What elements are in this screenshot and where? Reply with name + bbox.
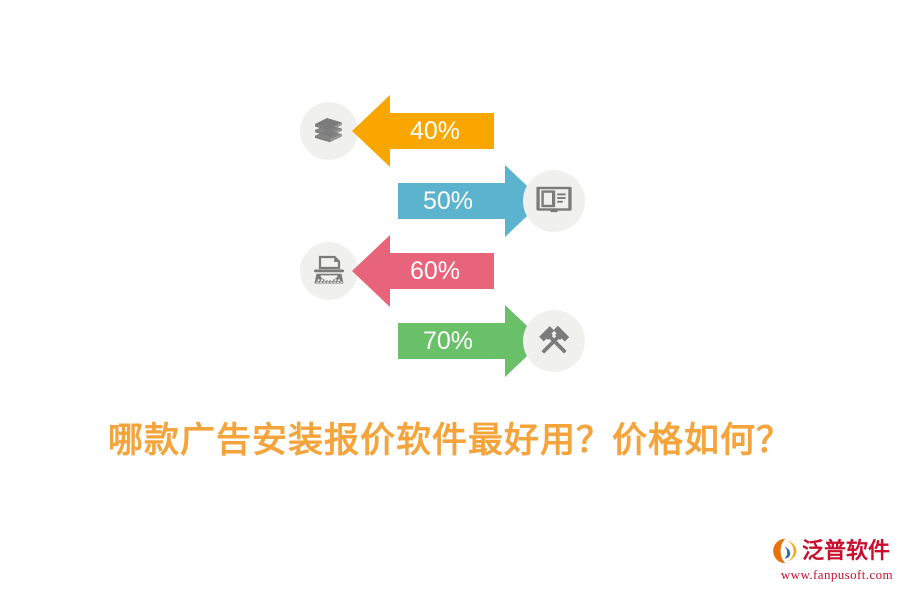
logo-url-text: www.fanpusoft.com <box>772 567 894 583</box>
logo-row: 泛普软件 <box>772 536 894 566</box>
open-book-icon <box>534 181 574 221</box>
arrow-value-label: 70% <box>423 305 473 377</box>
books-stack-icon <box>311 113 347 149</box>
infographic-row: 40% <box>295 95 605 167</box>
typewriter-icon <box>310 252 348 290</box>
arrow-value-label: 60% <box>410 235 460 307</box>
crossed-hammers-icon <box>534 321 574 361</box>
logo-brand-text: 泛普软件 <box>802 537 890 565</box>
icon-disc <box>523 310 585 372</box>
infographic-row: 60% <box>295 235 605 307</box>
arrow-value-label: 40% <box>410 95 460 167</box>
icon-disc <box>300 242 358 300</box>
poster-canvas: 40% 50% <box>0 0 900 600</box>
arrow-infographic: 40% 50% <box>295 95 605 385</box>
infographic-row: 50% <box>295 165 605 237</box>
brand-logo: 泛普软件 www.fanpusoft.com <box>772 536 894 586</box>
icon-disc <box>300 102 358 160</box>
fanpu-swoosh-logo-icon <box>772 537 800 565</box>
infographic-row: 70% <box>295 305 605 377</box>
icon-disc <box>523 170 585 232</box>
page-title: 哪款广告安装报价软件最好用？价格如何？ <box>0 412 900 463</box>
arrow-value-label: 50% <box>423 165 473 237</box>
